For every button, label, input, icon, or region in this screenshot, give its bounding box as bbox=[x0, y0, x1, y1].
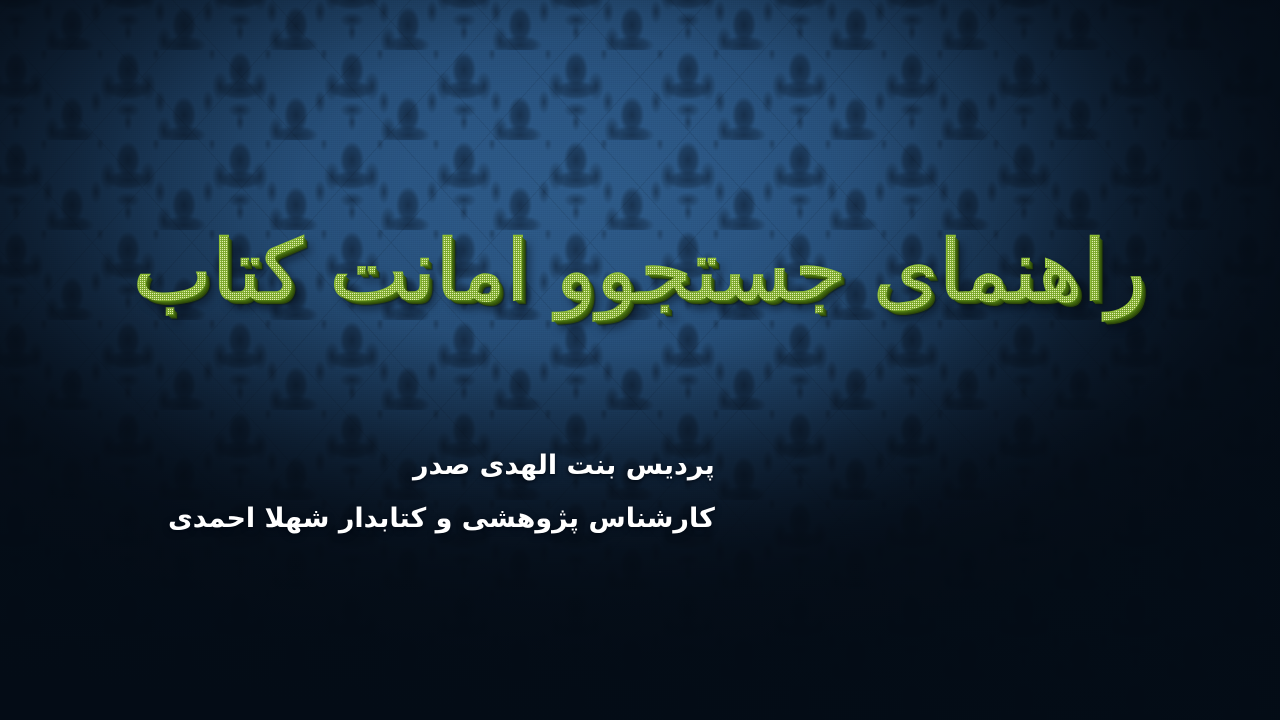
subtitle-line-role: کارشناس پژوهشی و کتابدار شهلا احمدی bbox=[168, 505, 715, 532]
subtitle-container: پردیس بنت الهدی صدر کارشناس پژوهشی و کتا… bbox=[168, 452, 715, 532]
presentation-title-slide: راهنمای جستجوو امانت کتاب پردیس بنت الهد… bbox=[0, 0, 1280, 720]
slide-title: راهنمای جستجوو امانت کتاب bbox=[133, 222, 1147, 321]
subtitle-line-author: پردیس بنت الهدی صدر bbox=[168, 452, 715, 479]
title-container: راهنمای جستجوو امانت کتاب bbox=[0, 222, 1280, 321]
slide-content: راهنمای جستجوو امانت کتاب پردیس بنت الهد… bbox=[0, 0, 1280, 720]
